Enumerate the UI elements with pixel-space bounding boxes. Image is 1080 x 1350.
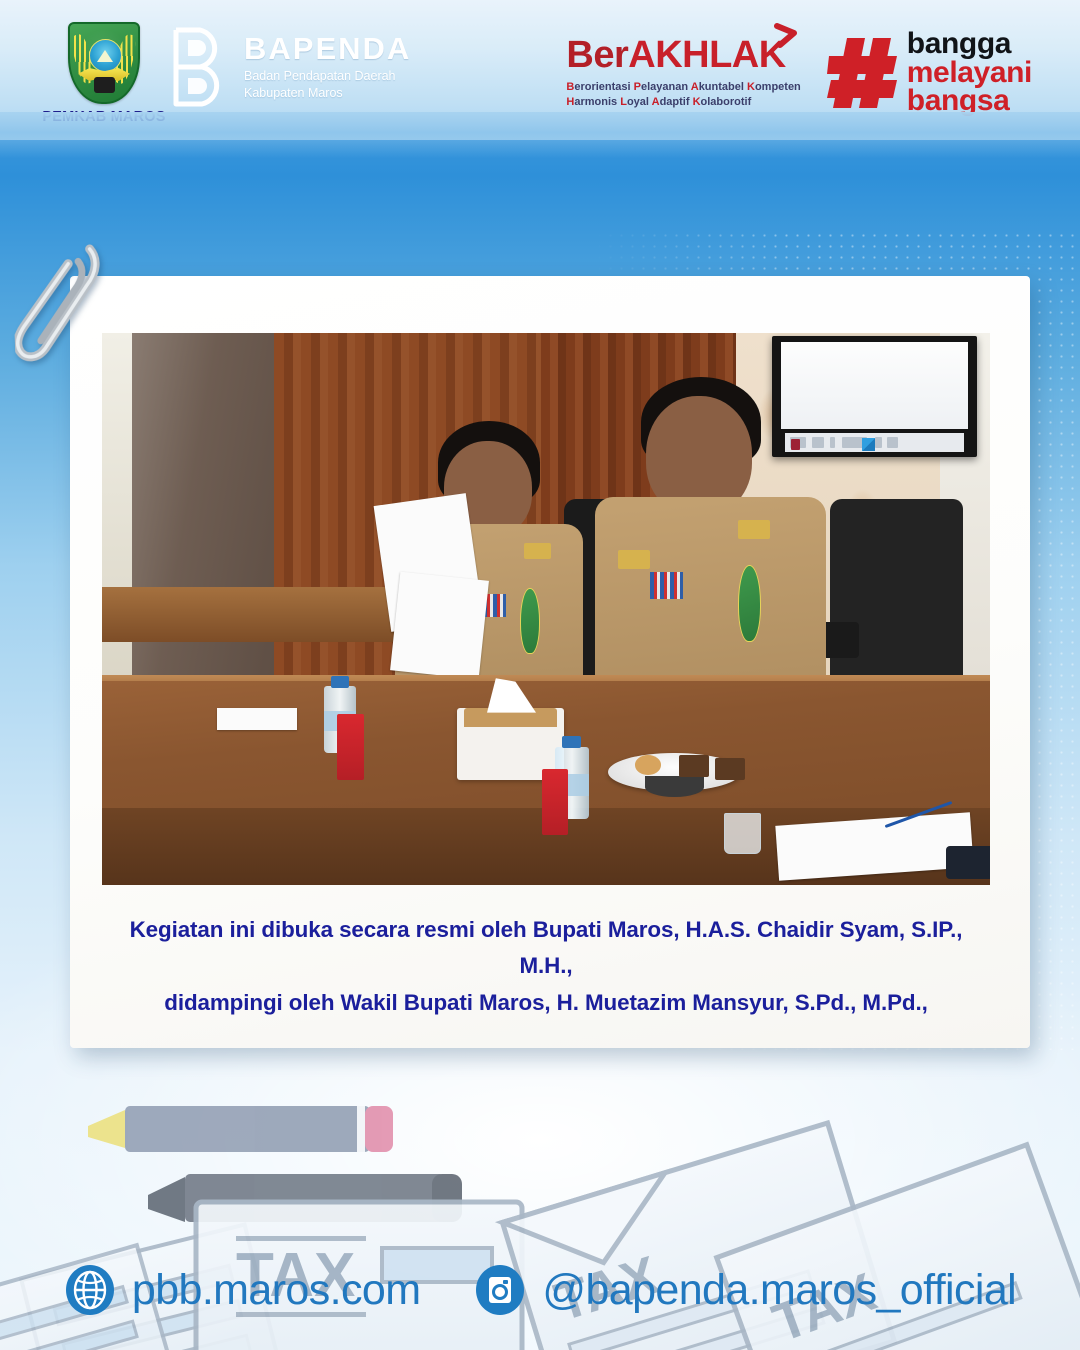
photo-caption: Kegiatan ini dibuka secara resmi oleh Bu… bbox=[102, 912, 990, 1021]
berakhlak-title-prefix: Ber bbox=[566, 34, 628, 76]
footer-contact-bar: pbb.maros.com @bapenda.maros_official bbox=[0, 1230, 1080, 1350]
berakhlak-values-line-2: Harmonis Loyal Adaptif Kolaborotif bbox=[566, 95, 800, 110]
bapenda-title: BAPENDA bbox=[244, 33, 411, 64]
header-bar: PEMKAB MAROS BAPENDA Badan Pendapatan Da… bbox=[0, 0, 1080, 140]
plastic-cup bbox=[724, 813, 762, 854]
bangga-line-3: bangsa bbox=[907, 87, 1032, 116]
snack-box bbox=[337, 714, 364, 780]
caption-line-2: didampingi oleh Wakil Bupati Maros, H. M… bbox=[102, 985, 990, 1021]
document-paper bbox=[390, 572, 489, 680]
bangga-line-1: bangga bbox=[907, 30, 1032, 59]
maros-coat-of-arms-icon bbox=[68, 22, 140, 104]
bapenda-b-monogram-icon bbox=[170, 26, 230, 108]
smartphone bbox=[946, 846, 990, 879]
instagram-icon bbox=[474, 1264, 526, 1316]
event-photo bbox=[102, 333, 990, 885]
hashtag-icon bbox=[827, 36, 899, 110]
website-link[interactable]: pbb.maros.com bbox=[132, 1269, 421, 1312]
bangga-melayani-bangsa-logo: bangga melayani bangsa bbox=[827, 30, 1032, 116]
berakhlak-title-suffix: AKHLAK bbox=[628, 34, 785, 76]
bapenda-logo: BAPENDA Badan Pendapatan Daerah Kabupate… bbox=[170, 26, 411, 108]
pemkab-maros-logo: PEMKAB MAROS bbox=[48, 22, 160, 125]
berakhlak-title: BerAKHLAK bbox=[566, 36, 785, 74]
berakhlak-logo: BerAKHLAK Berorientasi Pelayanan Akuntab… bbox=[566, 30, 800, 110]
instagram-handle-link[interactable]: @bapenda.maros_official bbox=[542, 1269, 1016, 1312]
pencil-icon bbox=[88, 1106, 393, 1152]
berakhlak-swoosh-icon bbox=[774, 23, 800, 49]
globe-icon bbox=[64, 1264, 116, 1316]
snack-box bbox=[542, 769, 569, 835]
bapenda-subtitle-line-1: Badan Pendapatan Daerah bbox=[244, 68, 411, 85]
bapenda-subtitle-line-2: Kabupaten Maros bbox=[244, 85, 411, 102]
pemkab-maros-label: PEMKAB MAROS bbox=[42, 109, 165, 125]
bangga-line-2: melayani bbox=[907, 59, 1032, 88]
berakhlak-values-line-1: Berorientasi Pelayanan Akuntabel Kompete… bbox=[566, 80, 800, 95]
document-paper bbox=[217, 708, 297, 730]
caption-line-1: Kegiatan ini dibuka secara resmi oleh Bu… bbox=[102, 912, 990, 985]
paperclip-icon bbox=[11, 234, 113, 397]
